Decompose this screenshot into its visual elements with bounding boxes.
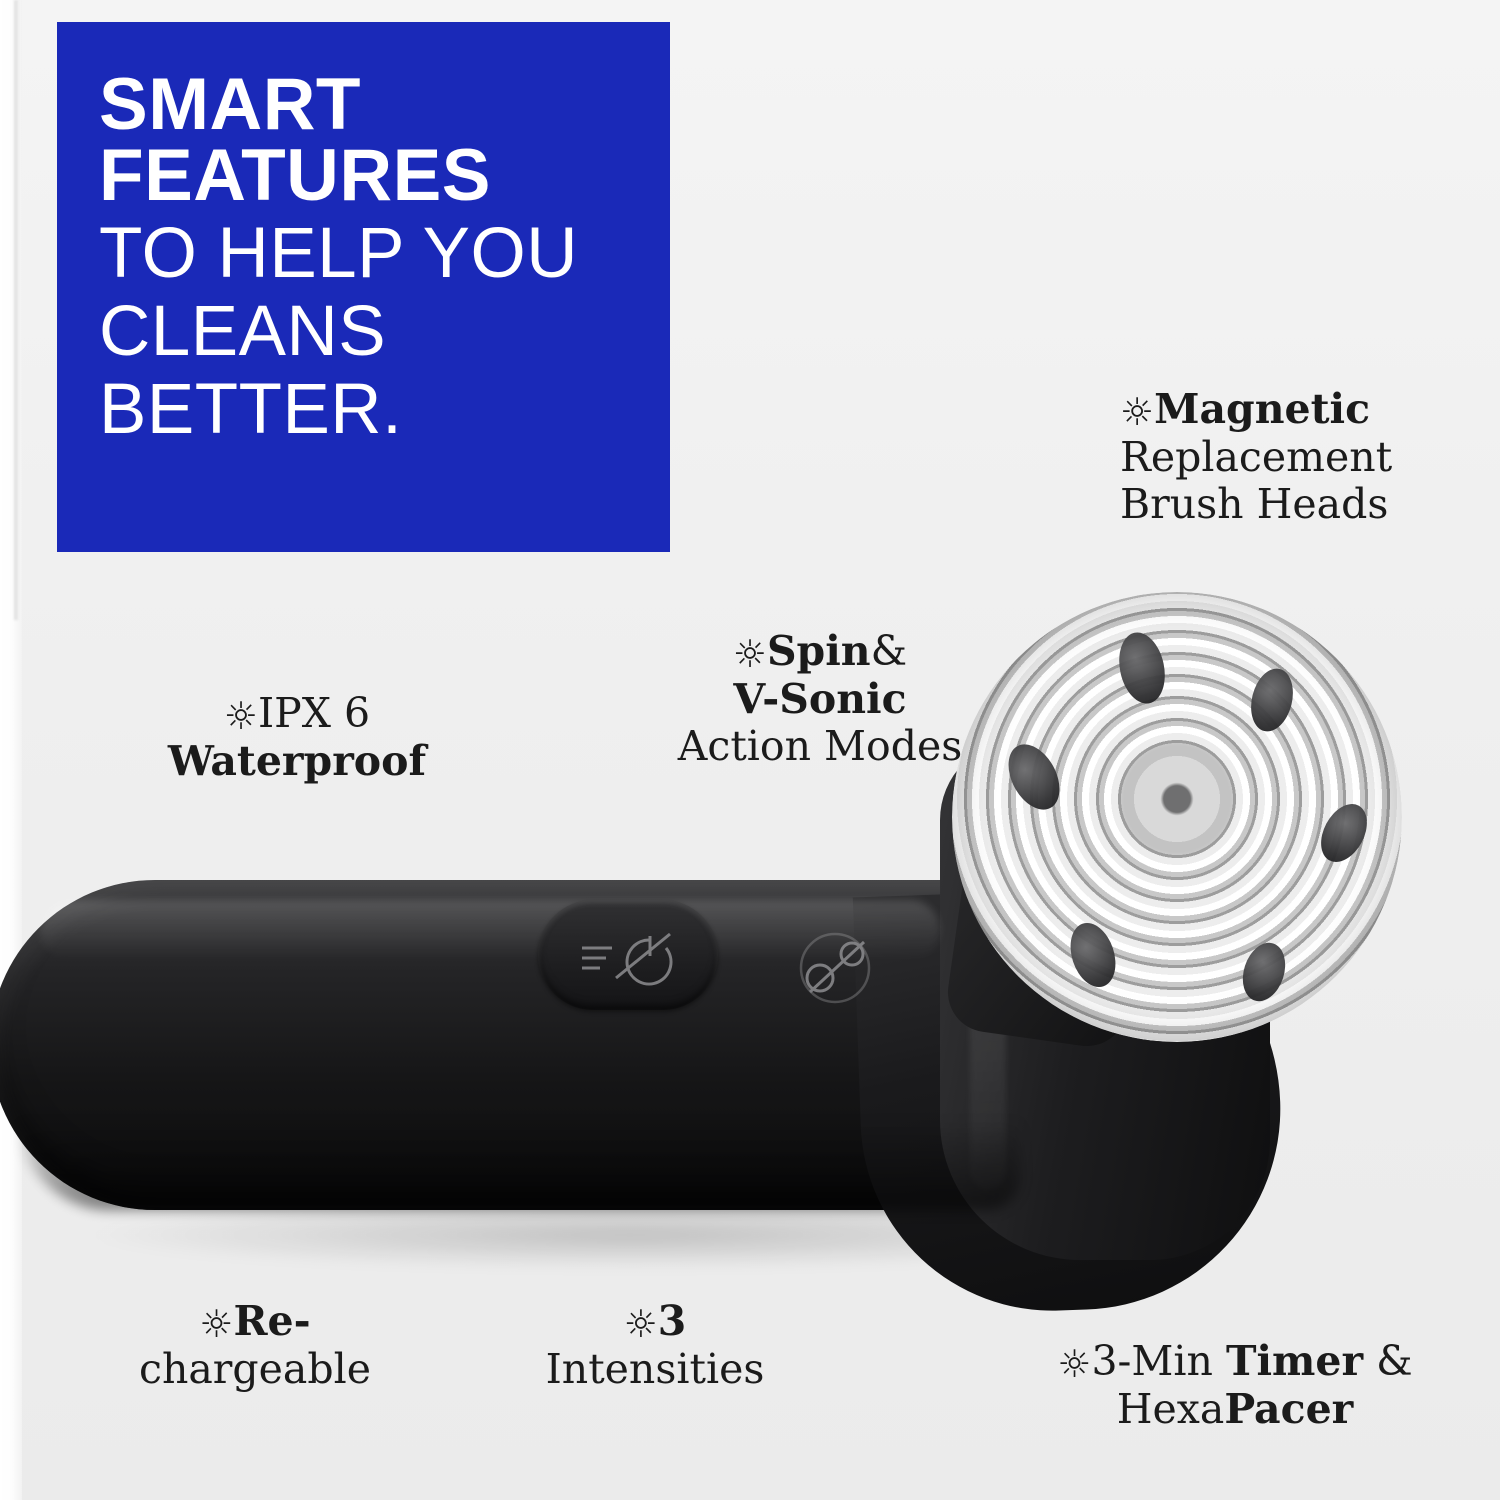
sun-burst-icon: ☼ xyxy=(1057,1345,1091,1383)
sun-burst-icon: ☼ xyxy=(733,635,767,673)
feature-intensities-bold: 3 xyxy=(658,1297,687,1345)
feature-magnetic-bold: Magnetic xyxy=(1154,385,1370,433)
headline-line-1: SMART xyxy=(99,70,630,141)
brush-dark-tuft xyxy=(1113,628,1171,708)
feature-vsonic-bold: V-Sonic xyxy=(733,675,906,723)
feature-spin-bold: Spin xyxy=(767,627,871,675)
feature-action-modes: ☼Spin& V-Sonic Action Modes xyxy=(610,628,1030,771)
feature-timer-bold: Timer xyxy=(1226,1337,1363,1385)
feature-magnetic: ☼Magnetic Replacement Brush Heads xyxy=(1120,386,1500,529)
feature-timer: ☼3-Min Timer & HexaPacer xyxy=(1000,1338,1470,1433)
headline-line-2: FEATURES xyxy=(99,141,630,212)
feature-rechargeable-bold: Re- xyxy=(233,1297,310,1345)
brush-dark-tuft xyxy=(1236,937,1293,1006)
feature-intensities-rest: Intensities xyxy=(440,1346,870,1394)
feature-timer-normal: 3-Min xyxy=(1091,1337,1212,1385)
headline-line-3: TO HELP YOU xyxy=(99,218,630,290)
feature-intensities: ☼3 Intensities xyxy=(440,1298,870,1393)
brush-dark-tuft xyxy=(1245,664,1299,736)
feature-rechargeable: ☼Re- chargeable xyxy=(55,1298,455,1393)
sun-burst-icon: ☼ xyxy=(224,697,258,735)
sun-burst-icon: ☼ xyxy=(199,1305,233,1343)
feature-hexa-normal: Hexa xyxy=(1117,1385,1225,1433)
feature-action-modes-rest: Action Modes xyxy=(610,723,1030,771)
product-handle-shading xyxy=(20,1120,1020,1210)
mode-button[interactable] xyxy=(538,900,718,1010)
power-mode-icon xyxy=(538,900,718,1010)
feature-timer-amp: & xyxy=(1376,1337,1413,1385)
product-feature-image: SMART FEATURES TO HELP YOU CLEANS BETTER… xyxy=(0,0,1500,1500)
feature-magnetic-line3: Brush Heads xyxy=(1120,481,1500,529)
intensity-button[interactable] xyxy=(780,920,890,1010)
feature-rechargeable-rest: chargeable xyxy=(55,1346,455,1394)
spin-intensity-icon xyxy=(780,920,890,1010)
headline-line-4: CLEANS xyxy=(99,296,630,368)
sun-burst-icon: ☼ xyxy=(624,1305,658,1343)
feature-magnetic-line2: Replacement xyxy=(1120,434,1500,482)
headline-line-5: BETTER. xyxy=(99,374,630,446)
sun-burst-icon: ☼ xyxy=(1120,393,1154,431)
brush-dark-tuft xyxy=(1063,917,1123,993)
background-left-line xyxy=(14,0,18,620)
feature-waterproof: ☼IPX 6 Waterproof xyxy=(82,690,512,785)
feature-waterproof-bold: Waterproof xyxy=(168,737,426,785)
feature-pacer-bold: Pacer xyxy=(1224,1385,1353,1433)
feature-waterproof-normal: IPX 6 xyxy=(258,689,370,737)
headline-block: SMART FEATURES TO HELP YOU CLEANS BETTER… xyxy=(57,22,670,552)
feature-spin-amp: & xyxy=(871,627,908,675)
brush-dark-tuft xyxy=(1312,796,1376,870)
